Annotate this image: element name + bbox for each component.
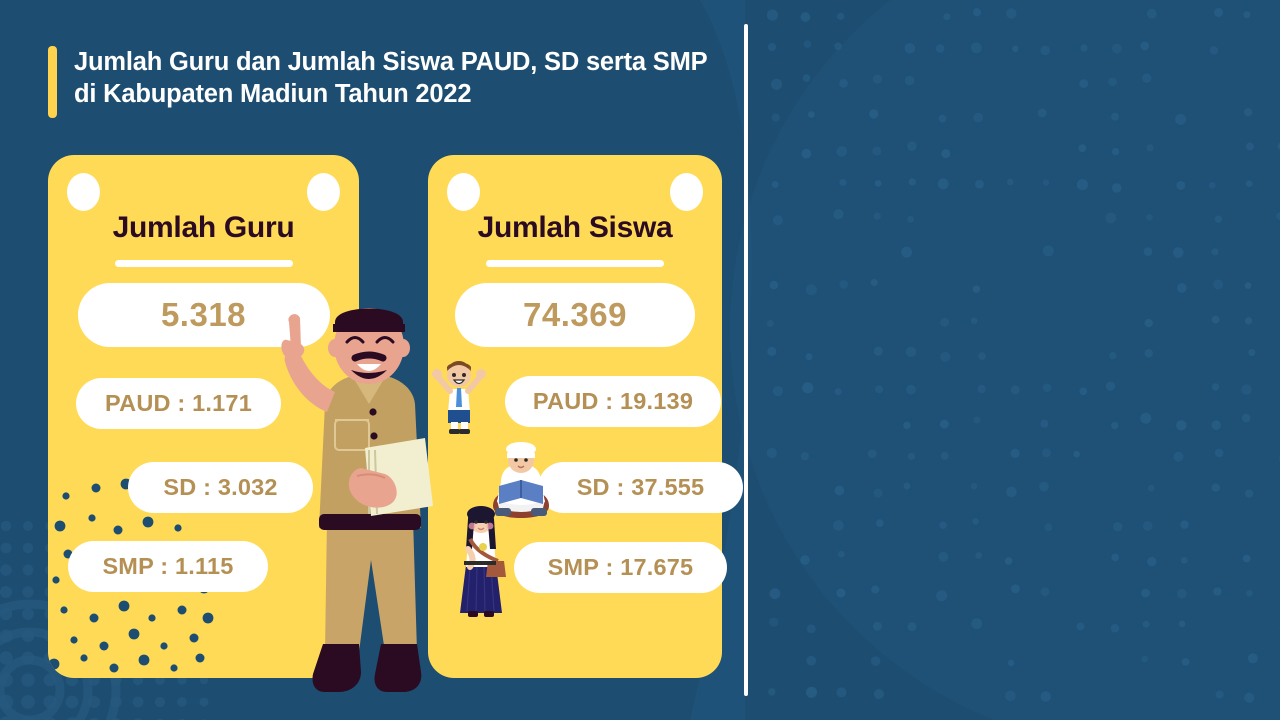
card-punch-hole-left: [447, 173, 480, 211]
card-heading-rule: [486, 260, 664, 267]
total-siswa-value: 74.369: [455, 283, 695, 347]
card-heading-siswa: Jumlah Siswa: [428, 211, 722, 245]
left-panel: Jumlah Guru dan Jumlah Siswa PAUD, SD se…: [0, 0, 745, 720]
right-panel: Jumlah Guru dan Jumlah Siswa jenjang pen…: [745, 0, 1280, 720]
guru-paud-row: PAUD : 1.171: [76, 378, 281, 429]
left-title-text: Jumlah Guru dan Jumlah Siswa PAUD, SD se…: [74, 46, 728, 110]
left-panel-title: Jumlah Guru dan Jumlah Siswa PAUD, SD se…: [48, 46, 728, 118]
siswa-sd-row: SD : 37.555: [538, 462, 743, 513]
cheering-boy-illustration: [428, 355, 490, 435]
card-punch-hole-left: [67, 173, 100, 211]
card-punch-hole-right: [307, 173, 340, 211]
schoolgirl-illustration: [450, 505, 512, 625]
panel-divider: [744, 24, 748, 696]
card-heading-rule: [115, 260, 293, 267]
guru-smp-row: SMP : 1.115: [68, 541, 268, 592]
siswa-smp-row: SMP : 17.675: [514, 542, 727, 593]
siswa-paud-row: PAUD : 19.139: [505, 376, 721, 427]
card-punch-hole-right: [670, 173, 703, 211]
card-heading-guru: Jumlah Guru: [48, 211, 359, 245]
title-accent-bar: [48, 46, 57, 118]
